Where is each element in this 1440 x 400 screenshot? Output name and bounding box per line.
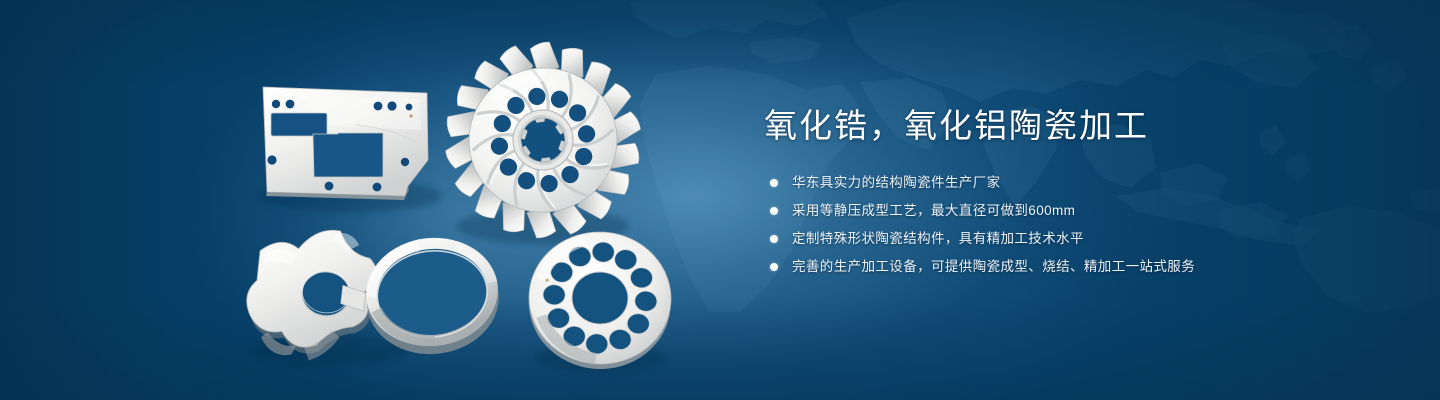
list-item: 华东具实力的结构陶瓷件生产厂家 [770, 172, 1304, 194]
ceramic-flat-plate [263, 87, 428, 200]
list-item-label: 华东具实力的结构陶瓷件生产厂家 [792, 175, 1001, 190]
bullet-dot-icon [770, 235, 778, 243]
list-item: 采用等静压成型工艺，最大直径可做到600mm [770, 200, 1304, 222]
page-title: 氧化锆，氧化铝陶瓷加工 [764, 104, 1304, 148]
bullet-dot-icon [770, 179, 778, 187]
list-item-label: 定制特殊形状陶瓷结构件，具有精加工技术水平 [792, 231, 1084, 246]
feature-list: 华东具实力的结构陶瓷件生产厂家 采用等静压成型工艺，最大直径可做到600mm 定… [770, 172, 1304, 278]
list-item: 完善的生产加工设备，可提供陶瓷成型、烧结、精加工一站式服务 [770, 256, 1304, 278]
bullet-dot-icon [770, 207, 778, 215]
list-item-label: 采用等静压成型工艺，最大直径可做到600mm [792, 203, 1075, 218]
banner-copy: 氧化锆，氧化铝陶瓷加工 华东具实力的结构陶瓷件生产厂家 采用等静压成型工艺，最大… [764, 104, 1304, 284]
hero-banner: 氧化锆，氧化铝陶瓷加工 华东具实力的结构陶瓷件生产厂家 采用等静压成型工艺，最大… [0, 0, 1440, 400]
product-images [0, 0, 760, 400]
list-item: 定制特殊形状陶瓷结构件，具有精加工技术水平 [770, 228, 1304, 250]
list-item-label: 完善的生产加工设备，可提供陶瓷成型、烧结、精加工一站式服务 [792, 259, 1195, 274]
ceramic-impeller-wheel [431, 28, 656, 253]
bullet-dot-icon [770, 263, 778, 271]
